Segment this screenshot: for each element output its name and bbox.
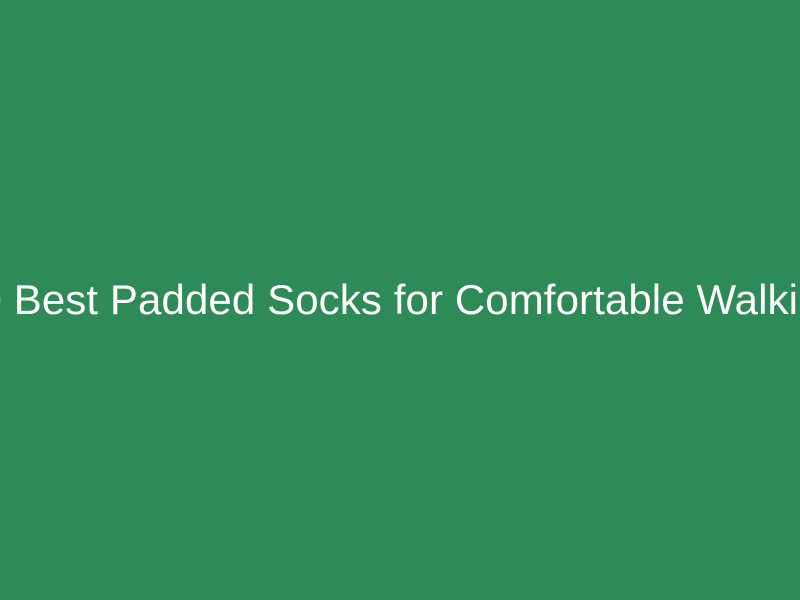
page-title: 10 Best Padded Socks for Comfortable Wal… <box>0 276 800 324</box>
title-card: 10 Best Padded Socks for Comfortable Wal… <box>0 0 800 600</box>
